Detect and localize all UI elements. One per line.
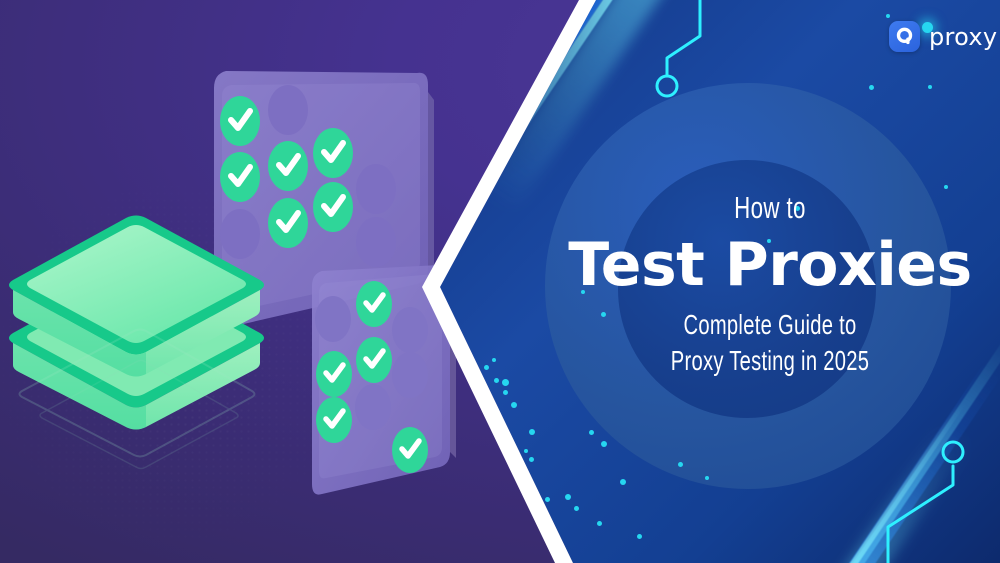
brand-logo[interactable]: proxy xyxy=(889,21,997,52)
slot-check xyxy=(356,281,392,327)
green-layers-stack xyxy=(8,205,273,455)
slot-check xyxy=(313,128,353,178)
eyebrow-text: How to xyxy=(604,190,935,226)
slot-check xyxy=(220,96,260,146)
logo-wordmark: proxy xyxy=(929,23,997,51)
slot-empty xyxy=(315,296,351,342)
slot-check xyxy=(220,152,260,202)
headline-block: How to Test Proxies Complete Guide to Pr… xyxy=(540,190,1000,379)
slot-empty xyxy=(356,217,396,267)
page-title: Test Proxies xyxy=(540,230,1000,300)
slot-empty xyxy=(392,352,428,398)
subtitle-line-2: Proxy Testing in 2025 xyxy=(604,343,935,379)
slot-check xyxy=(268,198,308,248)
slot-empty xyxy=(392,307,428,353)
circuit-trace-bottom-icon xyxy=(888,442,963,563)
slot-check xyxy=(316,397,352,443)
subtitle-line-1: Complete Guide to xyxy=(604,307,935,343)
slot-check xyxy=(313,182,353,232)
slot-check xyxy=(316,351,352,397)
slot-empty xyxy=(356,164,396,214)
proxy-q-mark-icon xyxy=(889,21,920,52)
slot-check xyxy=(356,337,392,383)
circuit-trace-top-icon xyxy=(657,0,700,96)
slot-empty xyxy=(268,85,308,135)
slot-empty xyxy=(355,384,391,430)
hero-banner: proxy How to Test Proxies Complete Guide… xyxy=(0,0,1000,563)
slot-check xyxy=(392,427,428,473)
slot-check xyxy=(268,141,308,191)
